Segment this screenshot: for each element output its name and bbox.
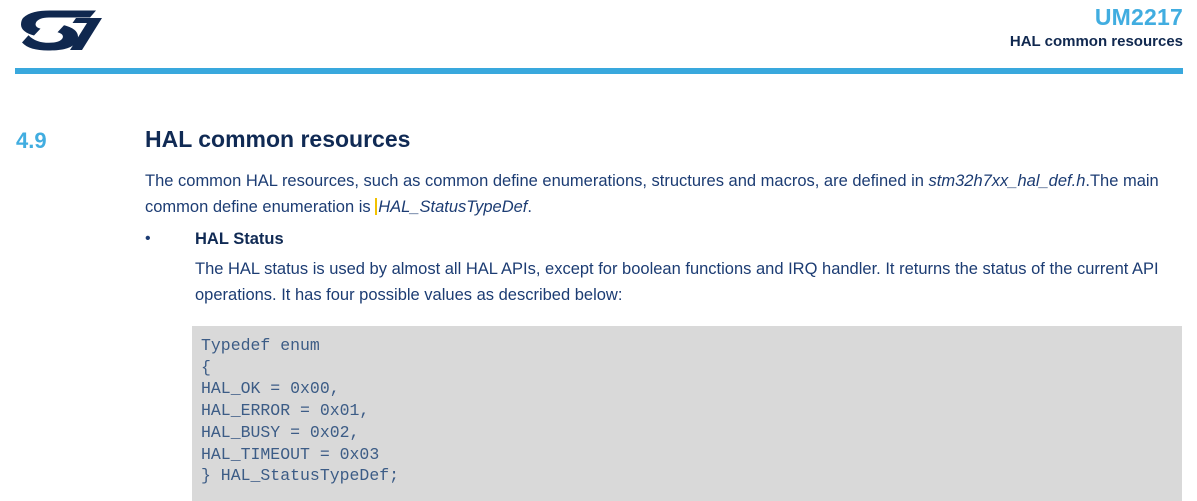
bullet-label: HAL Status xyxy=(195,228,284,250)
bullet-item-hal-status: • HAL Status xyxy=(145,228,1185,252)
bullet-glyph-icon: • xyxy=(145,228,151,250)
text-cursor-caret xyxy=(375,198,377,215)
code-block: Typedef enum { HAL_OK = 0x00, HAL_ERROR … xyxy=(192,326,1182,501)
header-divider-rule xyxy=(15,68,1183,74)
intro-line2-end: . xyxy=(527,198,532,216)
header-file-reference: stm32h7xx_hal_def.h xyxy=(929,172,1086,190)
intro-line1: The common HAL resources, such as common… xyxy=(145,172,929,190)
section-number: 4.9 xyxy=(16,128,47,154)
type-reference: HAL_StatusTypeDef xyxy=(378,198,527,216)
document-id: UM2217 xyxy=(1010,4,1183,30)
section-heading: 4.9 HAL common resources xyxy=(0,126,1197,160)
code-block-text: Typedef enum { HAL_OK = 0x00, HAL_ERROR … xyxy=(201,335,1182,487)
st-logo-icon xyxy=(16,9,104,51)
page-header: UM2217 HAL common resources xyxy=(0,0,1197,75)
header-subtitle: HAL common resources xyxy=(1010,32,1183,52)
intro-paragraph: The common HAL resources, such as common… xyxy=(145,168,1183,220)
header-text-block: UM2217 HAL common resources xyxy=(1010,4,1183,52)
hal-status-description: The HAL status is used by almost all HAL… xyxy=(195,256,1185,308)
section-title: HAL common resources xyxy=(145,126,410,153)
